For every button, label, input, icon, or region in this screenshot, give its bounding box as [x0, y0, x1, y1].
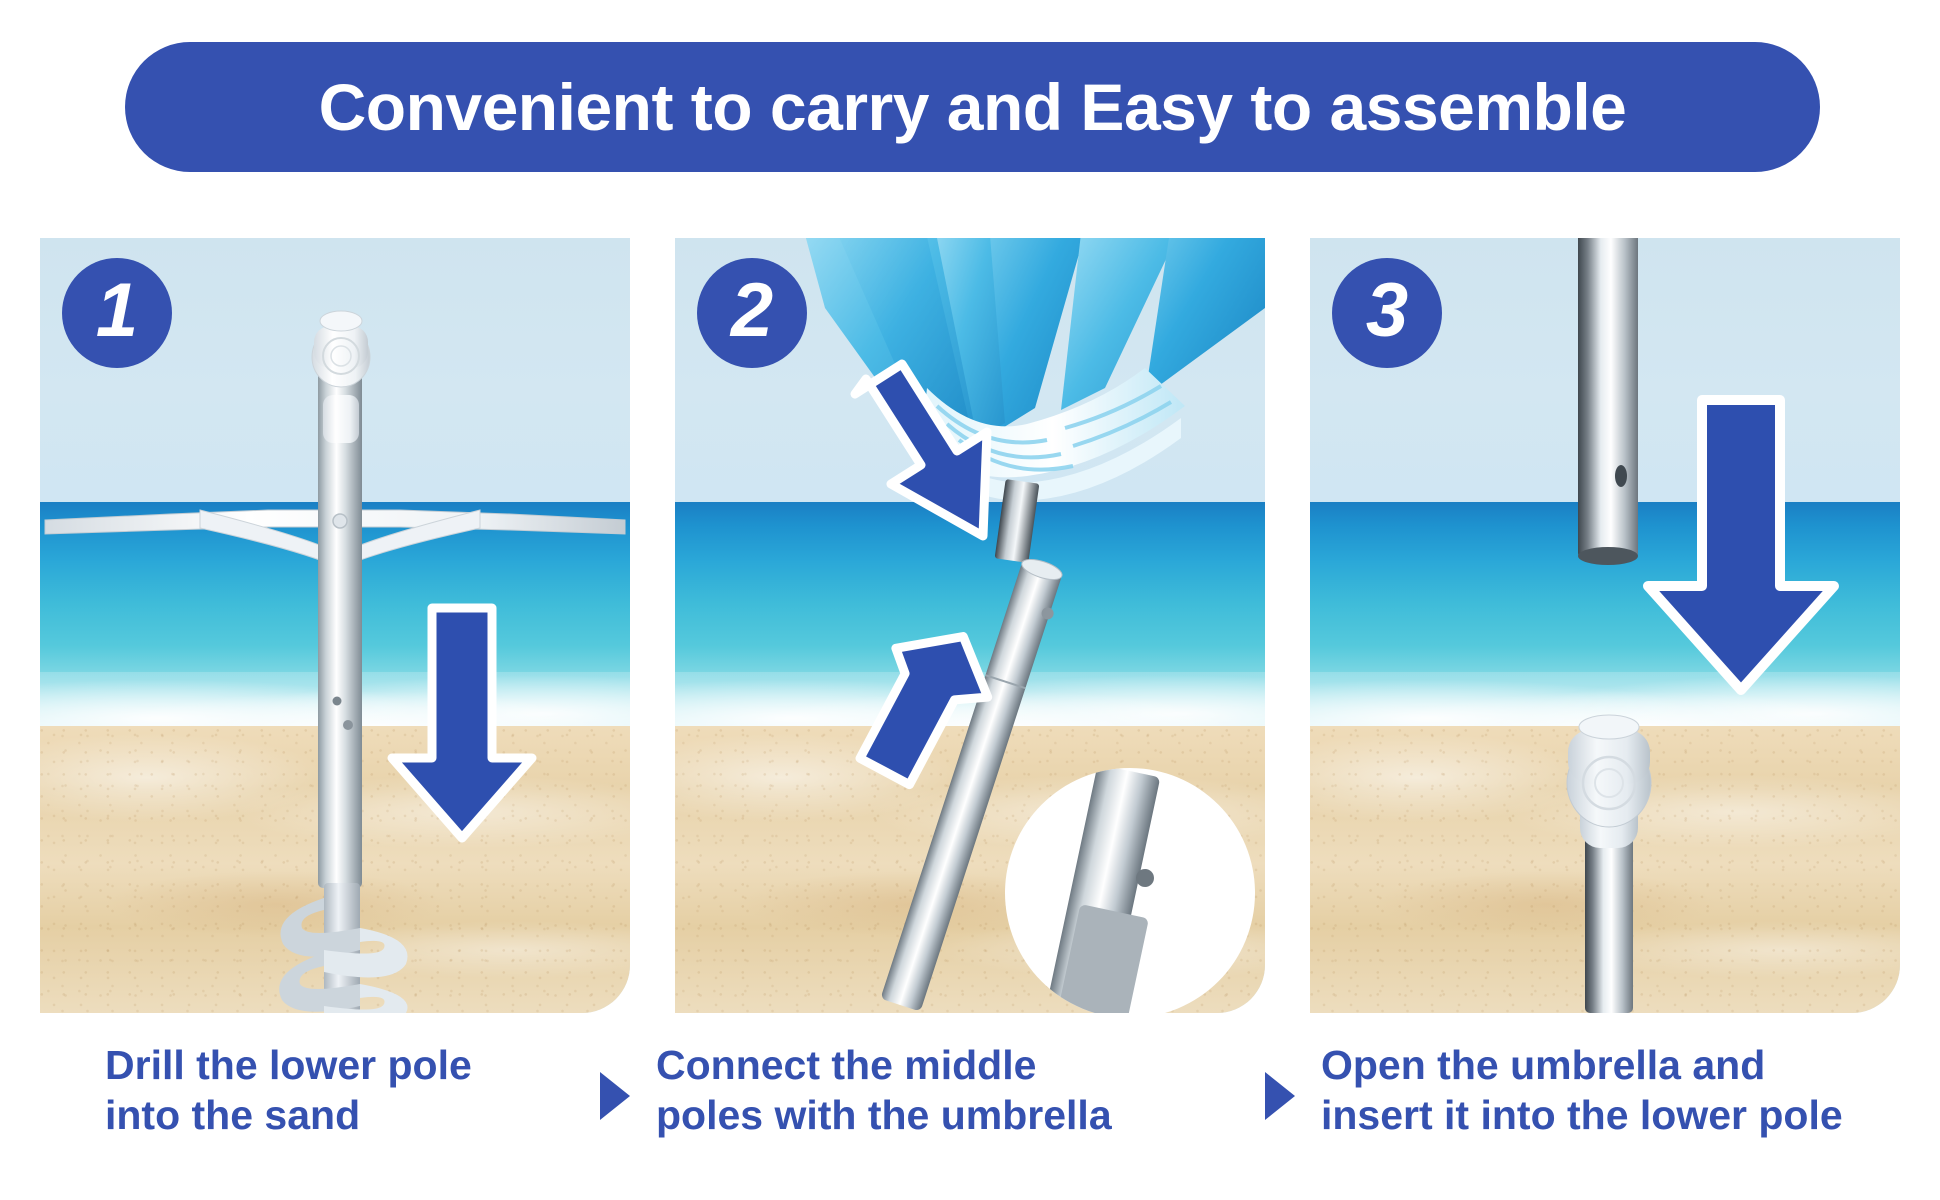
- step-badge-1: 1: [62, 258, 172, 368]
- pole-rivet: [343, 720, 353, 730]
- white-knob-icon: [1567, 715, 1651, 848]
- down-arrow-icon: [1648, 400, 1834, 690]
- lower-pole-icon: [1567, 715, 1651, 1013]
- handle-screw: [333, 514, 347, 528]
- caption-step-2: Connect the middle poles with the umbrel…: [600, 1040, 1112, 1140]
- page-title: Convenient to carry and Easy to assemble: [319, 74, 1627, 140]
- upper-pole-icon: [1578, 238, 1638, 565]
- step-badge-3: 3: [1332, 258, 1442, 368]
- button-hole-icon: [1615, 465, 1627, 487]
- separator-triangle-right-icon: [1265, 1072, 1295, 1120]
- step-panel-1: 1: [40, 238, 630, 1013]
- detail-inset-circle: [1005, 764, 1255, 1013]
- title-banner: Convenient to carry and Easy to assemble: [125, 42, 1820, 172]
- step-panel-2: 2: [675, 238, 1265, 1013]
- caption-text-3: Open the umbrella and insert it into the…: [1321, 1040, 1843, 1140]
- step-badge-2: 2: [697, 258, 807, 368]
- caption-step-3: Open the umbrella and insert it into the…: [1265, 1040, 1843, 1140]
- captions-row: Drill the lower pole into the sand Conne…: [0, 1040, 1940, 1170]
- step-number-1: 1: [96, 273, 138, 349]
- down-arrow-icon: [392, 608, 532, 838]
- steps-panel-row: 1: [0, 238, 1940, 1013]
- step-panel-3: 3: [1310, 238, 1900, 1013]
- step-number-3: 3: [1366, 273, 1408, 349]
- caption-text-1: Drill the lower pole into the sand: [105, 1040, 472, 1140]
- folded-umbrella-canopy-icon: [795, 238, 1265, 501]
- auger-screw-icon: [279, 883, 407, 1013]
- pole-rivet: [333, 697, 342, 706]
- caption-step-1: Drill the lower pole into the sand: [105, 1040, 472, 1140]
- step-number-2: 2: [731, 273, 773, 349]
- separator-triangle-right-icon: [600, 1072, 630, 1120]
- caption-text-2: Connect the middle poles with the umbrel…: [656, 1040, 1112, 1140]
